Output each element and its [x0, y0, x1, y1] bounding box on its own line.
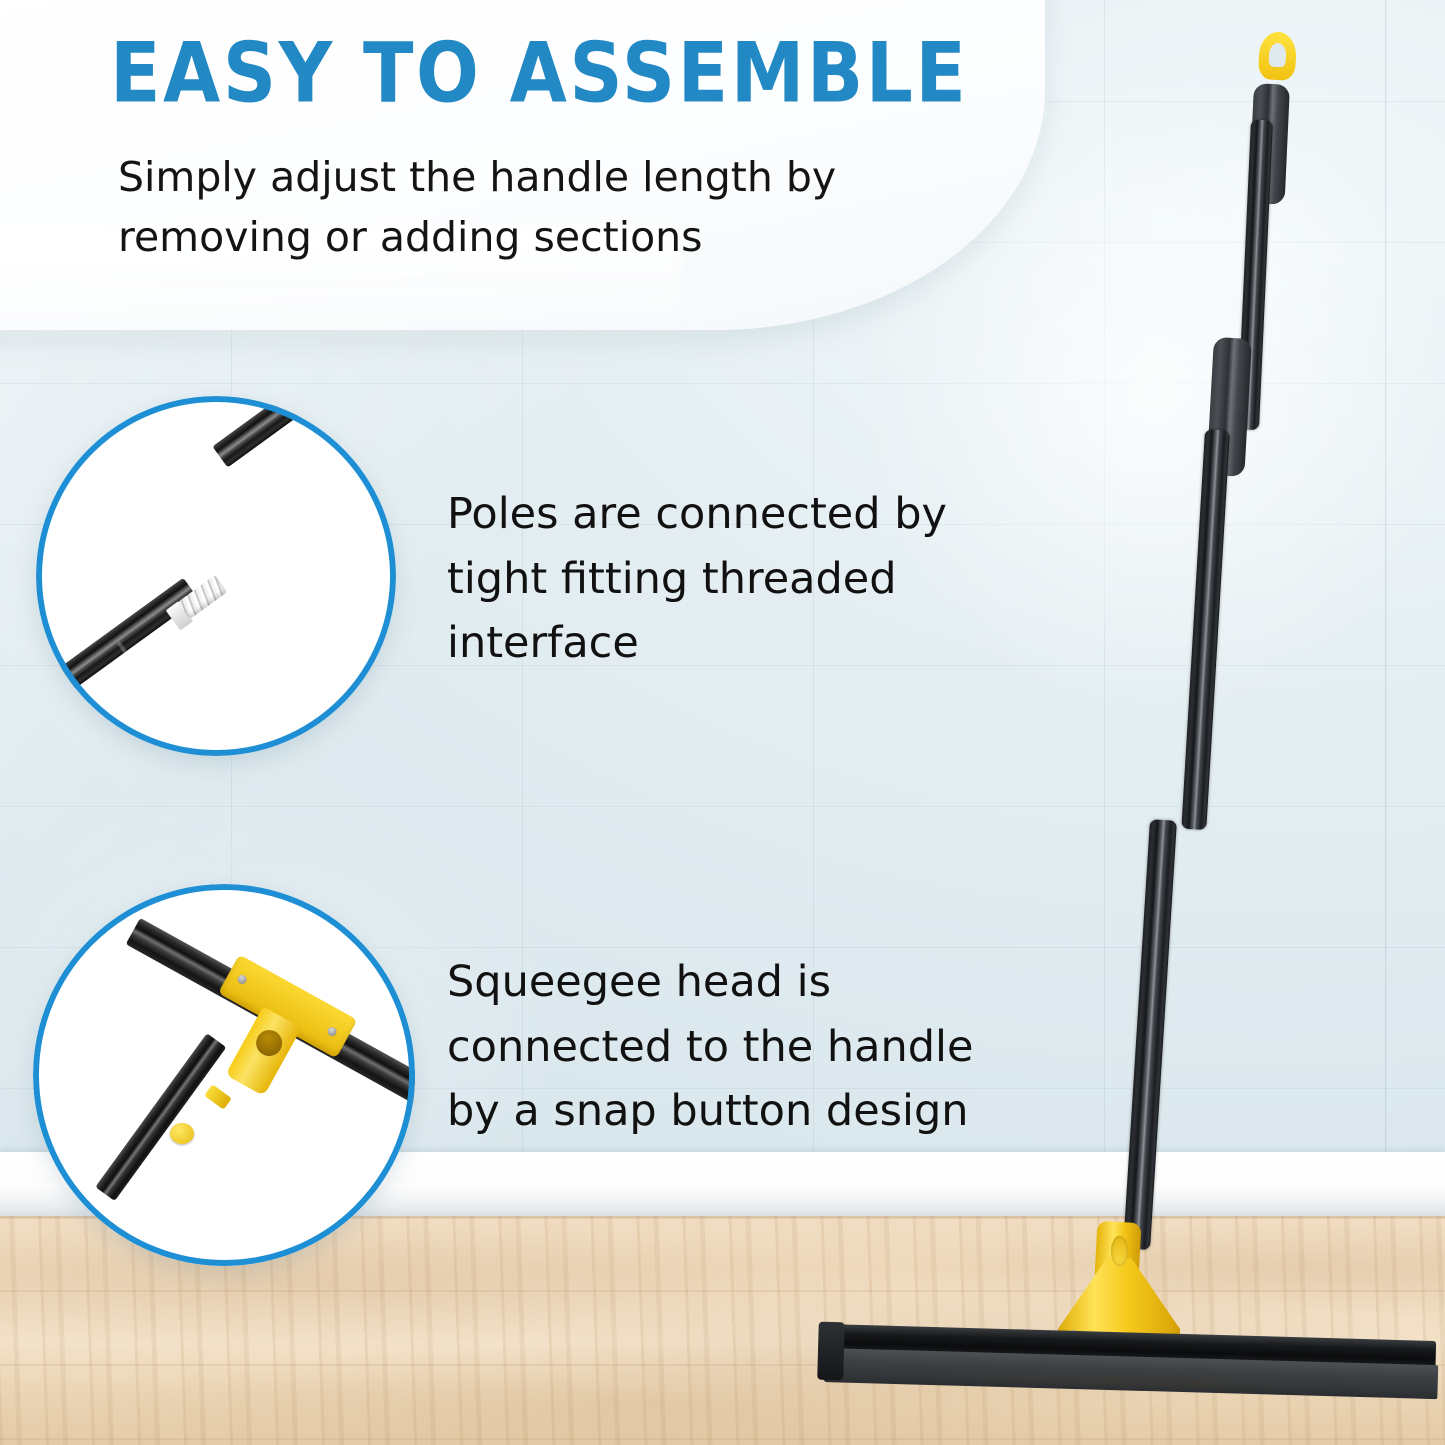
bracket-snap-indent	[1111, 1236, 1128, 1266]
hanging-loop-icon	[1258, 31, 1297, 81]
infographic-canvas: EASY TO ASSEMBLE Simply adjust the handl…	[0, 0, 1445, 1445]
pole-shaft-lower	[1123, 819, 1177, 1250]
pole-shaft-middle	[1181, 429, 1230, 830]
product-squeegee	[0, 0, 1445, 1445]
loop-inner-hole	[1268, 43, 1286, 68]
